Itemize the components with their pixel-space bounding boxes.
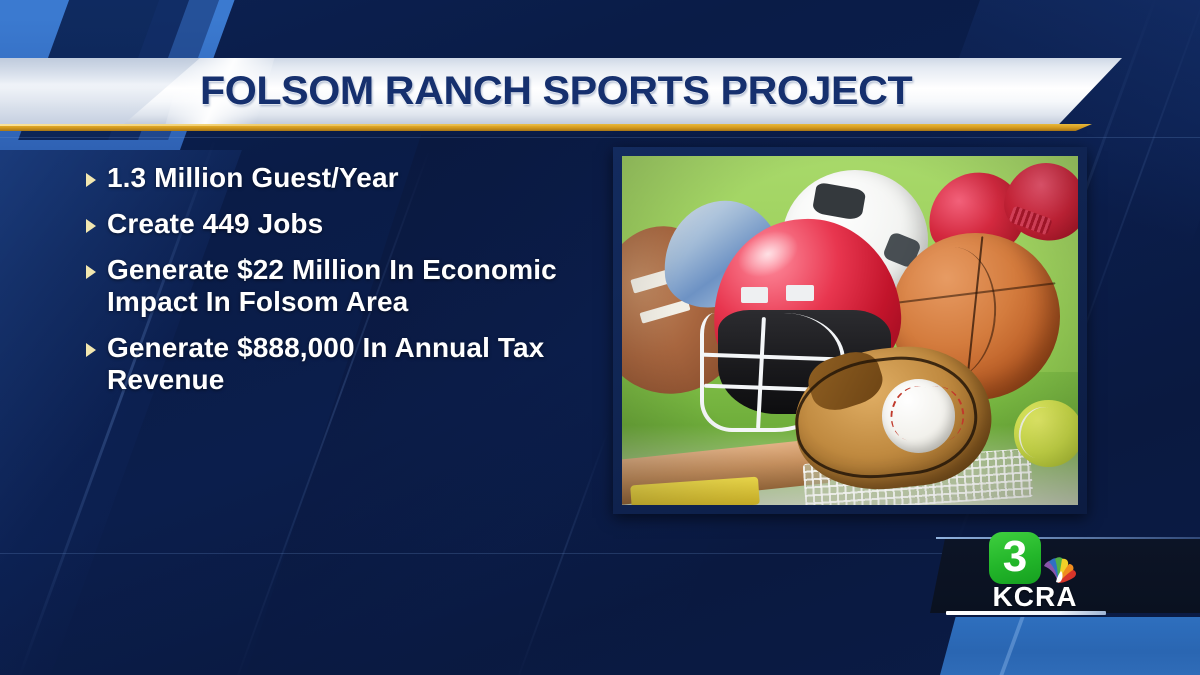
channel-number-label: 3 xyxy=(989,532,1041,584)
list-item-label: Generate $888,000 In Annual Tax Revenue xyxy=(107,332,586,396)
station-call-letters: KCRA xyxy=(975,581,1095,613)
list-item: Generate $888,000 In Annual Tax Revenue xyxy=(86,332,586,396)
photo-vignette xyxy=(622,156,1078,505)
horizontal-rule-faint xyxy=(0,137,1200,138)
bullet-list: 1.3 Million Guest/Year Create 449 Jobs G… xyxy=(86,162,586,409)
gold-accent-highlight xyxy=(0,124,600,126)
bullet-triangle-icon xyxy=(86,219,96,233)
list-item-label: Generate $22 Million In Economic Impact … xyxy=(107,254,586,318)
list-item: 1.3 Million Guest/Year xyxy=(86,162,586,194)
bullet-triangle-icon xyxy=(86,173,96,187)
diagonal-streak xyxy=(513,430,610,675)
bullet-triangle-icon xyxy=(86,343,96,357)
broadcast-graphic: FOLSOM RANCH SPORTS PROJECT 1.3 Million … xyxy=(0,0,1200,675)
sports-equipment-photo xyxy=(622,156,1078,505)
bottom-accent-band xyxy=(940,617,1200,675)
list-item: Generate $22 Million In Economic Impact … xyxy=(86,254,586,318)
list-item: Create 449 Jobs xyxy=(86,208,586,240)
bullet-triangle-icon xyxy=(86,265,96,279)
list-item-label: 1.3 Million Guest/Year xyxy=(107,162,399,194)
logo-rule-bottom xyxy=(946,611,1106,615)
photo-frame xyxy=(613,147,1087,514)
logo-rule-top xyxy=(936,537,1200,539)
list-item-label: Create 449 Jobs xyxy=(107,208,323,240)
page-title: FOLSOM RANCH SPORTS PROJECT xyxy=(200,58,912,124)
